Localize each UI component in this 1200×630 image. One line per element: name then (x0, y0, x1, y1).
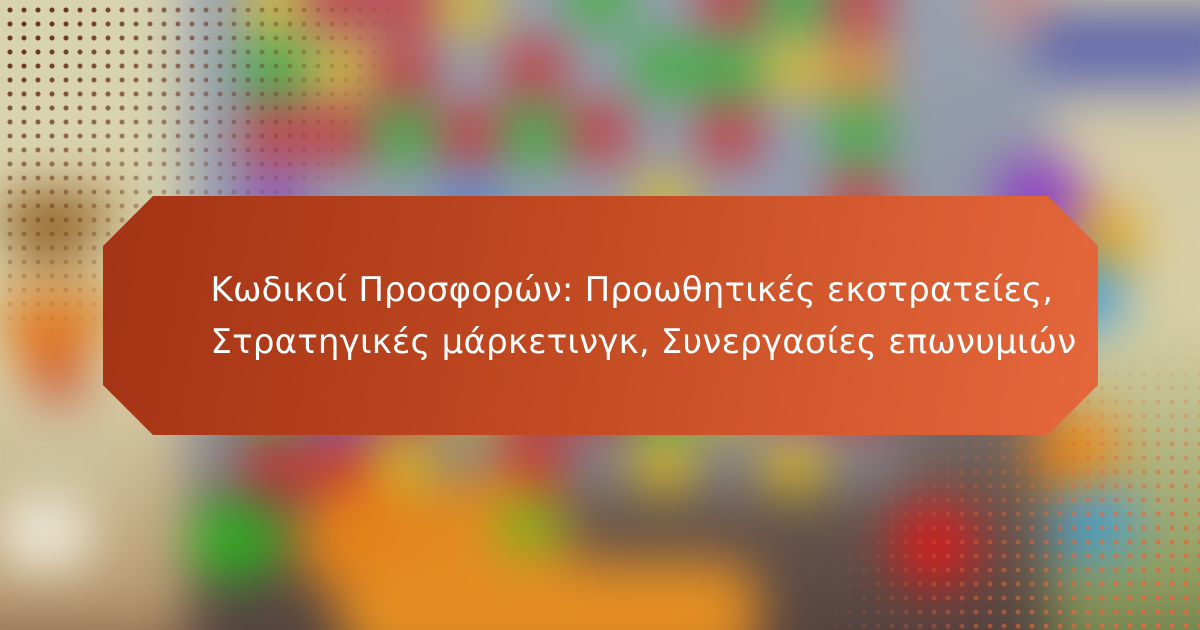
banner-title-line-1: Κωδικοί Προσφορών: Προωθητικές εκστρατεί… (211, 264, 991, 316)
banner-title: Κωδικοί Προσφορών: Προωθητικές εκστρατεί… (141, 264, 1061, 368)
title-banner: Κωδικοί Προσφορών: Προωθητικές εκστρατεί… (103, 196, 1098, 435)
banner-title-line-2: Στρατηγικές μάρκετινγκ, Συνεργασίες επων… (211, 316, 991, 368)
promo-banner-image: Κωδικοί Προσφορών: Προωθητικές εκστρατεί… (0, 0, 1200, 630)
